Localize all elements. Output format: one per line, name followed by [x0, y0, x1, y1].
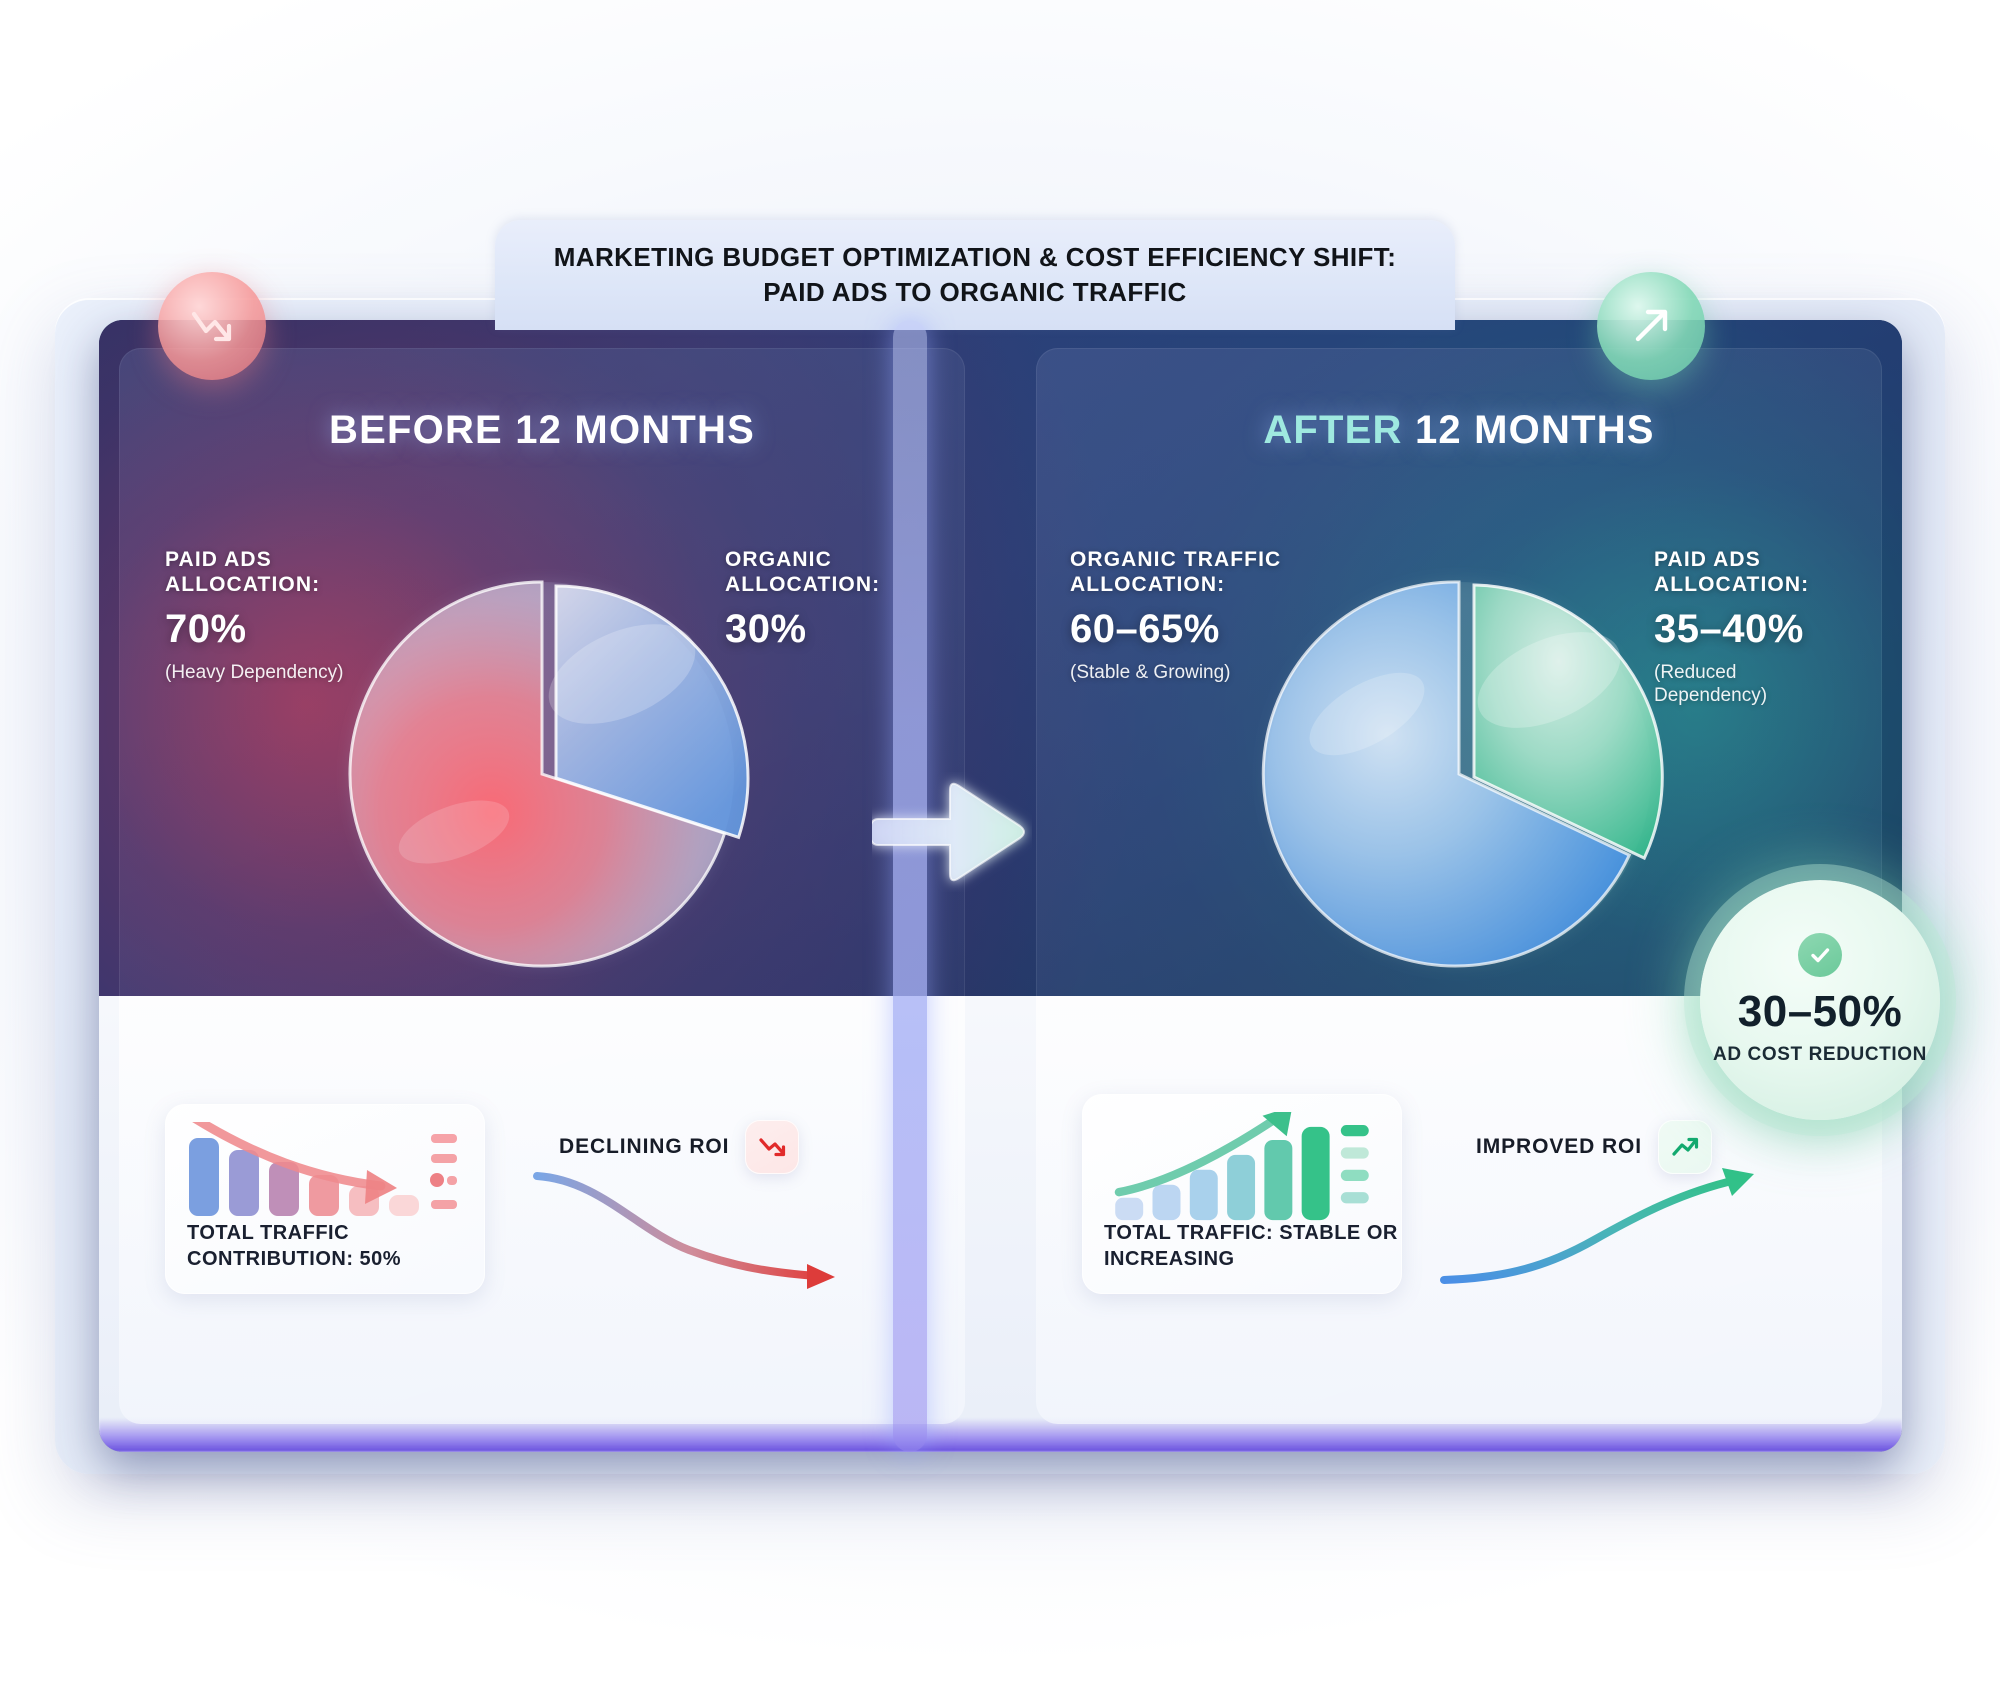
trending-down-icon: [184, 298, 240, 354]
allocation-paid-before-value: 70%: [165, 606, 355, 653]
panel-after-heading-accent: AFTER: [1263, 408, 1402, 452]
trending-up-icon: [1623, 298, 1679, 354]
ad-cost-reduction-badge: 30–50% AD COST REDUCTION: [1700, 880, 1940, 1120]
allocation-organic-after-label: ORGANIC TRAFFIC ALLOCATION:: [1070, 548, 1300, 598]
traffic-caption-after: TOTAL TRAFFIC: STABLE OR INCREASING: [1104, 1220, 1402, 1272]
traffic-card-after: TOTAL TRAFFIC: STABLE OR INCREASING: [1082, 1094, 1402, 1294]
roi-label-after: IMPROVED ROI: [1476, 1135, 1642, 1159]
badge-decline: [158, 272, 266, 380]
reduction-label: AD COST REDUCTION: [1713, 1043, 1927, 1066]
roi-label-before: DECLINING ROI: [559, 1135, 729, 1159]
allocation-paid-after: PAID ADS ALLOCATION: 35–40% (Reduced Dep…: [1654, 548, 1854, 708]
allocation-paid-after-label: PAID ADS ALLOCATION:: [1654, 548, 1854, 598]
mini-bar-chart-after: [1102, 1112, 1382, 1222]
allocation-paid-after-note: (Reduced Dependency): [1654, 661, 1854, 709]
allocation-paid-after-value: 35–40%: [1654, 606, 1854, 653]
allocation-paid-before: PAID ADS ALLOCATION: 70% (Heavy Dependen…: [165, 548, 355, 684]
allocation-organic-after-note: (Stable & Growing): [1070, 661, 1300, 685]
panel-after-heading-rest: 12 MONTHS: [1403, 408, 1655, 452]
roi-indicator-before: DECLINING ROI: [559, 1120, 799, 1174]
trend-curve-after: [1436, 1158, 1786, 1298]
title-line-1: MARKETING BUDGET OPTIMIZATION & COST EFF…: [554, 240, 1397, 275]
allocation-organic-after: ORGANIC TRAFFIC ALLOCATION: 60–65% (Stab…: [1070, 548, 1300, 684]
title-line-2: PAID ADS TO ORGANIC TRAFFIC: [763, 275, 1186, 310]
reduction-value: 30–50%: [1738, 987, 1902, 1037]
panel-after: AFTER 12 MONTHS: [1036, 348, 1882, 1424]
allocation-paid-before-note: (Heavy Dependency): [165, 661, 355, 685]
arrow-up-right-icon: [1658, 1120, 1712, 1174]
roi-indicator-after: IMPROVED ROI: [1476, 1120, 1712, 1174]
arrow-right-icon: [872, 772, 1032, 892]
title-tab: MARKETING BUDGET OPTIMIZATION & COST EFF…: [495, 220, 1455, 330]
panel-before-heading: BEFORE 12 MONTHS: [119, 408, 965, 453]
infographic-page: MARKETING BUDGET OPTIMIZATION & COST EFF…: [0, 0, 2000, 1700]
check-icon: [1798, 933, 1842, 977]
panel-after-heading: AFTER 12 MONTHS: [1036, 408, 1882, 453]
pie-chart-after: [1249, 564, 1669, 984]
allocation-organic-after-value: 60–65%: [1070, 606, 1300, 653]
panel-before: BEFORE 12 MONTHS: [119, 348, 965, 1424]
traffic-card-before: TOTAL TRAFFIC CONTRIBUTION: 50%: [165, 1104, 485, 1294]
mini-bar-chart-before: [185, 1122, 465, 1232]
pie-chart-before: [332, 564, 752, 984]
arrow-down-right-icon: [745, 1120, 799, 1174]
badge-growth: [1597, 272, 1705, 380]
allocation-paid-before-label: PAID ADS ALLOCATION:: [165, 548, 355, 598]
traffic-caption-before: TOTAL TRAFFIC CONTRIBUTION: 50%: [187, 1220, 485, 1272]
trend-curve-before: [529, 1158, 859, 1298]
